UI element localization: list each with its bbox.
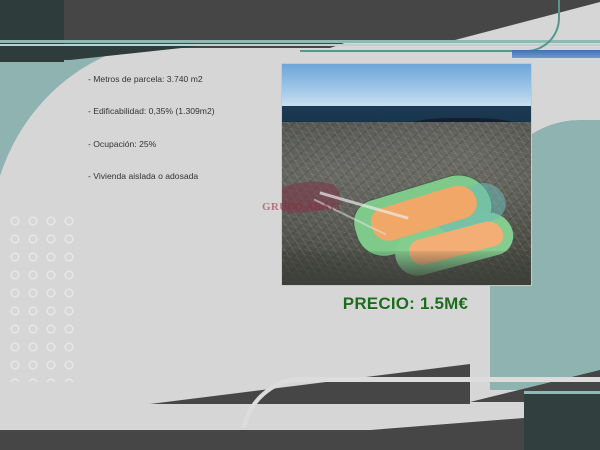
list-item: - Edificabilidad: 0,35% (1.309m2): [88, 106, 273, 116]
list-item: - Ocupación: 25%: [88, 139, 273, 149]
list-item: - Vivienda aislada o adosada: [88, 171, 273, 181]
header-corner-block: [0, 0, 64, 54]
header-lower-wedge: [0, 46, 330, 60]
price-label: PRECIO: 1.5M€: [281, 294, 530, 314]
header-corner-block-lower: [0, 46, 64, 62]
header-teal-stripe: [0, 40, 600, 43]
footer-teal-stripe: [524, 391, 600, 394]
header-banner-dark: [0, 0, 600, 40]
footer-diagonal-stripe-1: [150, 364, 470, 404]
list-item: - Metros de parcela: 3.740 m2: [88, 74, 273, 84]
footer-band-main: [0, 404, 600, 450]
header-teal-curve: [300, 0, 560, 52]
decorative-circle-dot-grid: [6, 212, 78, 382]
header-teal-stripe-light: [0, 44, 600, 46]
footer-light-curve: [241, 377, 600, 428]
property-details-list: - Metros de parcela: 3.740 m2 - Edificab…: [88, 74, 273, 203]
aerial-site-photo: [281, 63, 532, 286]
photo-sky: [282, 64, 531, 108]
photo-foreground-shadow: [282, 251, 531, 285]
header-blue-accent-bar: [512, 50, 600, 58]
footer-corner-block: [524, 394, 600, 450]
header-banner-wedge: [0, 0, 470, 48]
photo-watermark: GRUPO ABAIT: [262, 201, 342, 213]
footer-diagonal-stripe-2: [470, 370, 600, 402]
presentation-slide: - Metros de parcela: 3.740 m2 - Edificab…: [0, 0, 600, 450]
footer-band: [0, 392, 600, 450]
